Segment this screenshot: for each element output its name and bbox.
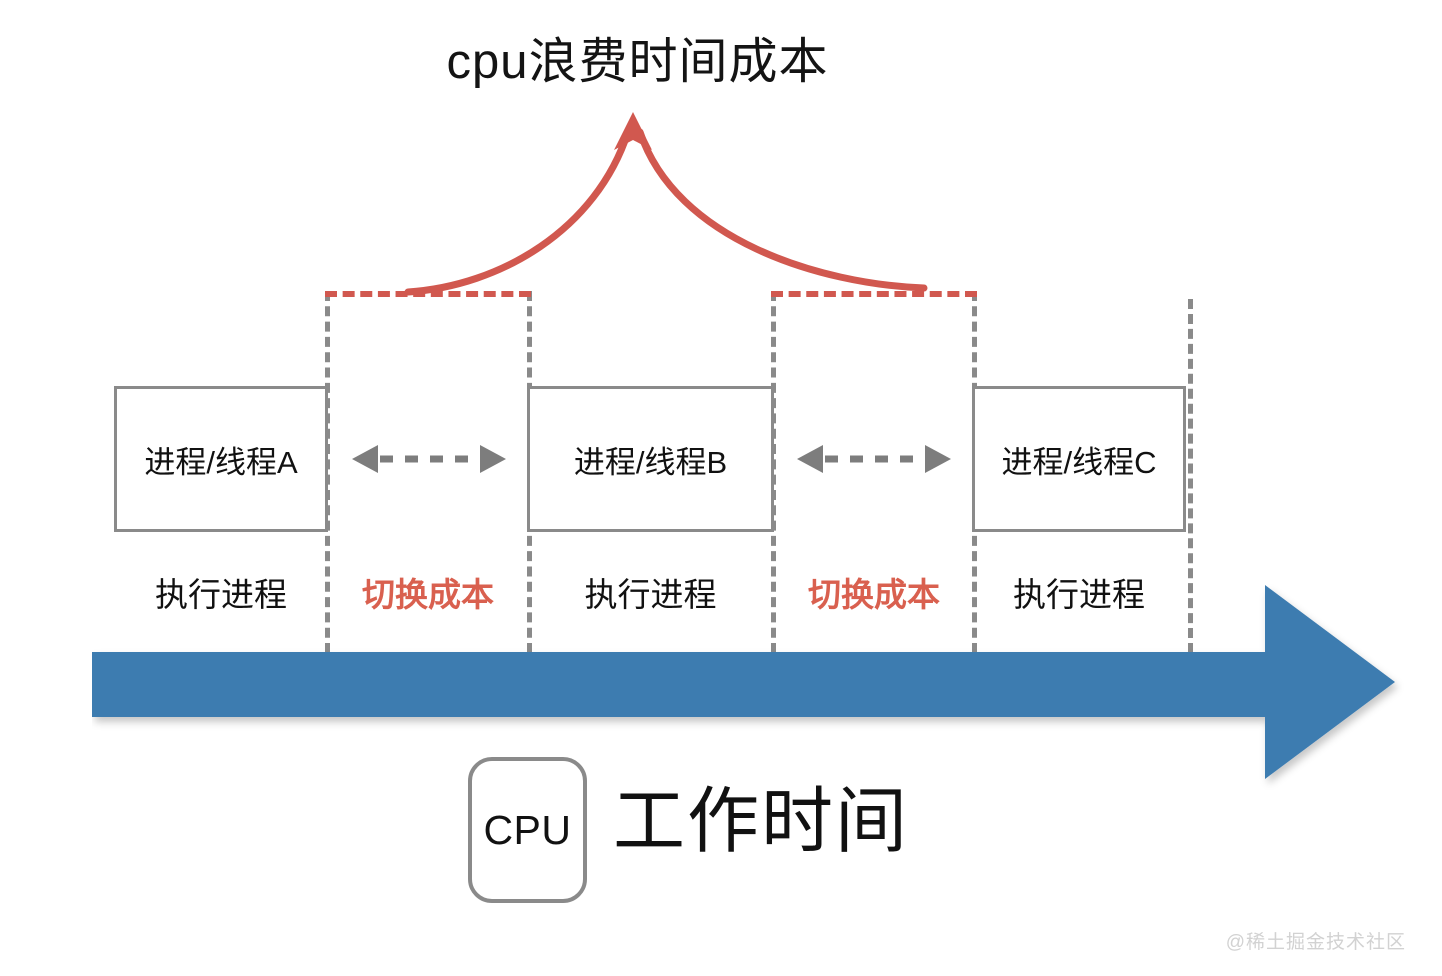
cpu-badge-label: CPU <box>483 807 571 854</box>
bidirectional-arrow-icon-2 <box>797 442 951 476</box>
process-box-c: 进程/线程C <box>972 386 1186 532</box>
switch-column-cap-1 <box>325 291 531 297</box>
up-arrow-icon <box>614 112 652 150</box>
page-title: cpu浪费时间成本 <box>0 36 1275 90</box>
work-time-label: 工作时间 <box>613 786 909 858</box>
process-box-c-label: 进程/线程C <box>1002 437 1157 482</box>
watermark: @稀土掘金技术社区 <box>1226 927 1406 954</box>
process-box-b: 进程/线程B <box>527 386 774 532</box>
timeline-right-arrow-icon <box>92 578 1412 798</box>
process-box-a: 进程/线程A <box>114 386 328 532</box>
process-box-a-label: 进程/线程A <box>144 437 297 482</box>
switch-column-cap-2 <box>771 291 977 297</box>
diagram-canvas: cpu浪费时间成本 进程/线程A 进程/线程B 进程/线程C <box>0 0 1442 976</box>
bidirectional-arrow-icon-1 <box>352 442 506 476</box>
cpu-badge: CPU <box>468 757 587 903</box>
process-box-b-label: 进程/线程B <box>574 437 727 482</box>
